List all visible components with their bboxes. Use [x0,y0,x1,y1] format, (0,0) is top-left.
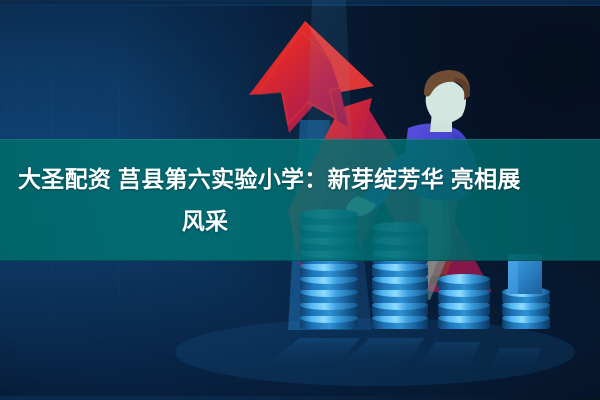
coin-stack-3 [438,274,490,329]
caption-text: 大圣配资 莒县第六实验小学：新芽绽芳华 亮相展 风采 [0,139,600,261]
bottom-edge-strip [0,396,600,400]
thumbnail-image: 大圣配资 莒县第六实验小学：新芽绽芳华 亮相展 风采 [0,0,600,400]
caption-line-2: 风采 [182,200,229,242]
caption-line-1: 大圣配资 莒县第六实验小学：新芽绽芳华 亮相展 [14,158,521,200]
